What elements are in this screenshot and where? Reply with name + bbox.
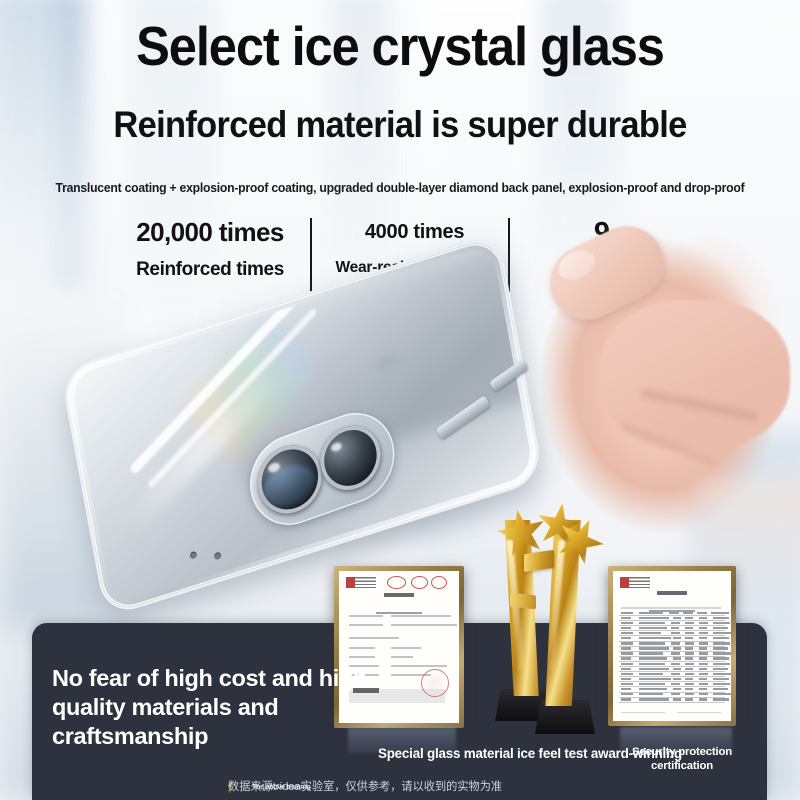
certification-mark-icon <box>411 576 428 589</box>
stat-divider <box>508 218 510 292</box>
microphone-hole <box>214 551 222 560</box>
disclaimer-overlay-text: The above training <box>252 783 311 792</box>
subheadline: Reinforced material is super durable <box>28 104 772 146</box>
certificate-data-table <box>619 611 725 699</box>
certificate-text-line <box>349 637 399 639</box>
caption-certification: Security protection certification <box>612 745 752 773</box>
certificate-title <box>339 593 459 597</box>
camera-lens <box>314 417 386 499</box>
certificate-logo <box>620 577 650 588</box>
trophy-ribbon <box>510 593 536 610</box>
body-copy: Translucent coating + explosion-proof co… <box>12 179 788 197</box>
certificate-text-line <box>349 615 383 617</box>
certificate-text-line <box>349 656 375 658</box>
microphone-hole <box>189 551 197 560</box>
stat-divider <box>310 218 312 292</box>
certificate-red-stamp <box>421 669 449 697</box>
certificate-security <box>608 566 736 726</box>
banner-headline: No fear of high cost and high quality ma… <box>52 664 382 751</box>
phone-product-photo <box>62 292 582 592</box>
certificate-text-line <box>349 647 375 649</box>
certificate-text-line <box>391 624 457 626</box>
certificate-footer-line <box>621 712 665 714</box>
certificate-footer-line <box>677 712 721 714</box>
certificate-text-line <box>391 647 421 649</box>
product-marketing-image: Select ice crystal glass Reinforced mate… <box>0 0 800 800</box>
certificate-text-line <box>621 607 721 609</box>
certificate-paper <box>613 571 731 721</box>
stat-value: 20,000 times <box>110 216 310 248</box>
certification-mark-icon <box>431 576 447 589</box>
certificate-text-line <box>391 665 447 667</box>
certificate-text-line <box>391 656 413 658</box>
certificate-logo <box>346 577 376 588</box>
stat-label: Reinforced times <box>110 257 310 283</box>
certificate-text-line <box>349 624 383 626</box>
certificate-title <box>613 591 731 595</box>
table-row <box>619 698 725 703</box>
certification-mark-icon <box>387 576 406 589</box>
certificate-text-line <box>391 615 451 617</box>
headline: Select ice crystal glass <box>32 16 768 76</box>
stat-reinforced: 20,000 times Reinforced times <box>110 216 310 283</box>
